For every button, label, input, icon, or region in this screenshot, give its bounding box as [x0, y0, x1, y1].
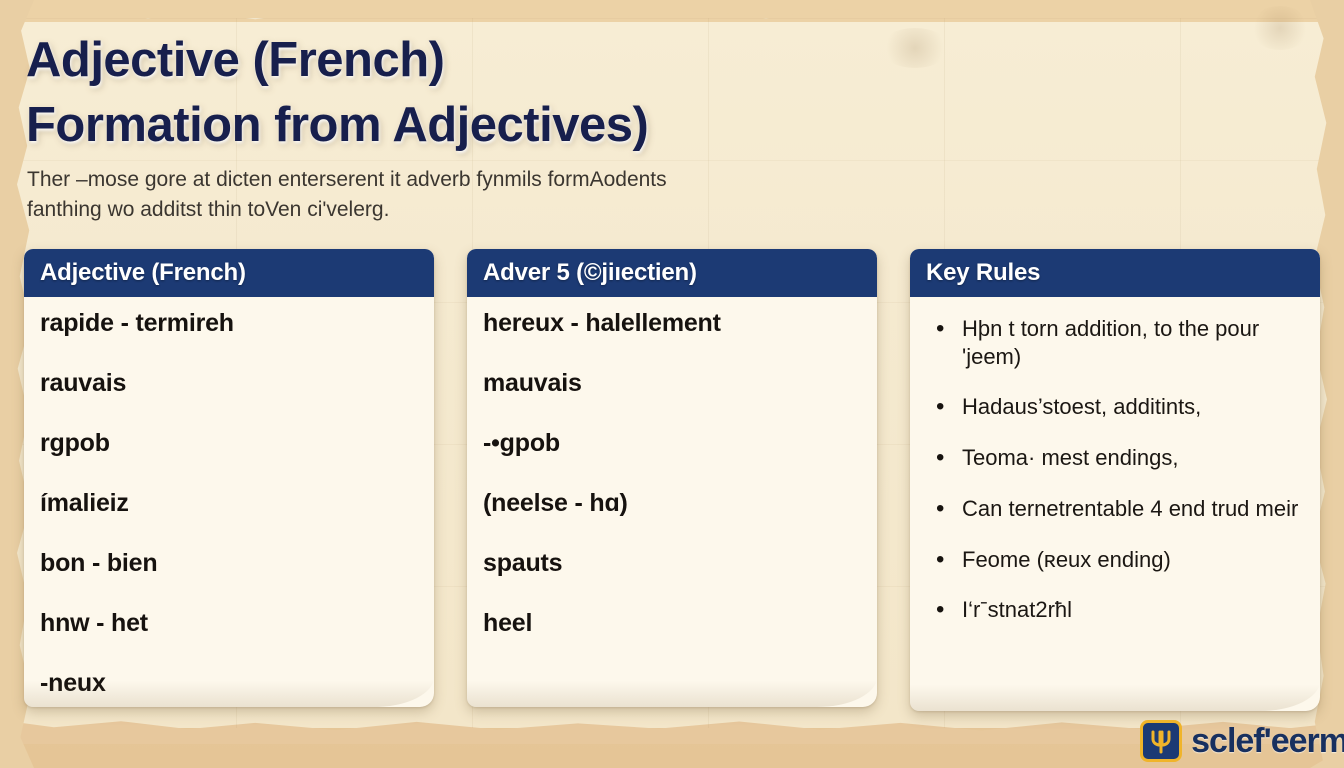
list-item: Feome (ʀeux ending) [926, 546, 1304, 574]
card-header-key-rules: Key Rules [910, 249, 1320, 297]
card-header-adjective-french: Adjective (French) [24, 249, 434, 297]
card-adverb: Adver 5 (©jiıectien) hereux - halellemen… [467, 249, 877, 707]
card-header-adverb: Adver 5 (©jiıectien) [467, 249, 877, 297]
brand-watermark: sclef'eerm [1140, 720, 1344, 762]
list-item: bon - bien [40, 551, 418, 576]
key-rules-list: Hþn t torn addition, to the pour 'jeem) … [926, 311, 1304, 624]
list-item: hnw - het [40, 611, 418, 636]
card-body-adjective-french: rapide - termireh rauvais rgpob ímalieiz… [24, 297, 434, 706]
card-key-rules: Key Rules Hþn t torn addition, to the po… [910, 249, 1320, 711]
card-adjective-french: Adjective (French) rapide - termireh rau… [24, 249, 434, 707]
card-body-key-rules: Hþn t torn addition, to the pour 'jeem) … [910, 297, 1320, 634]
card-header-label: Adver 5 (©jiıectien) [483, 259, 697, 287]
brand-name: sclef'eerm [1191, 722, 1344, 761]
list-item: ímalieiz [40, 491, 418, 516]
list-item: I‘rˉstnat2rħl [926, 596, 1304, 624]
list-item: hereux - halellement [483, 311, 861, 336]
list-item: Teoma· mest endings, [926, 444, 1304, 472]
list-item: Hþn t torn addition, to the pour 'jeem) [926, 315, 1304, 370]
psi-icon [1140, 720, 1182, 762]
list-item: Hadaus’stoest, additints, [926, 393, 1304, 421]
page-curl-shadow [467, 663, 877, 707]
list-item: rauvais [40, 371, 418, 396]
card-body-adverb: hereux - halellement mauvais -•gpob (nee… [467, 297, 877, 646]
page-title: Adjective (French) Formation from Adject… [26, 28, 1026, 157]
slide-canvas: Adjective (French) Formation from Adject… [0, 0, 1344, 768]
list-item: mauvais [483, 371, 861, 396]
list-item: -•gpob [483, 431, 861, 456]
page-subtitle: Ther –mose gore at dicten enterserent it… [27, 165, 817, 225]
list-item: Can ternetrentable 4 end trud meir [926, 495, 1304, 523]
list-item: heel [483, 611, 861, 636]
list-item: rapide - termireh [40, 311, 418, 336]
card-header-label: Adjective (French) [40, 259, 246, 287]
list-item: (neelse - hɑ) [483, 491, 861, 516]
page-curl-shadow [910, 667, 1320, 711]
list-item: -neux [40, 671, 418, 696]
list-item: spauts [483, 551, 861, 576]
card-header-label: Key Rules [926, 259, 1040, 287]
list-item: rgpob [40, 431, 418, 456]
